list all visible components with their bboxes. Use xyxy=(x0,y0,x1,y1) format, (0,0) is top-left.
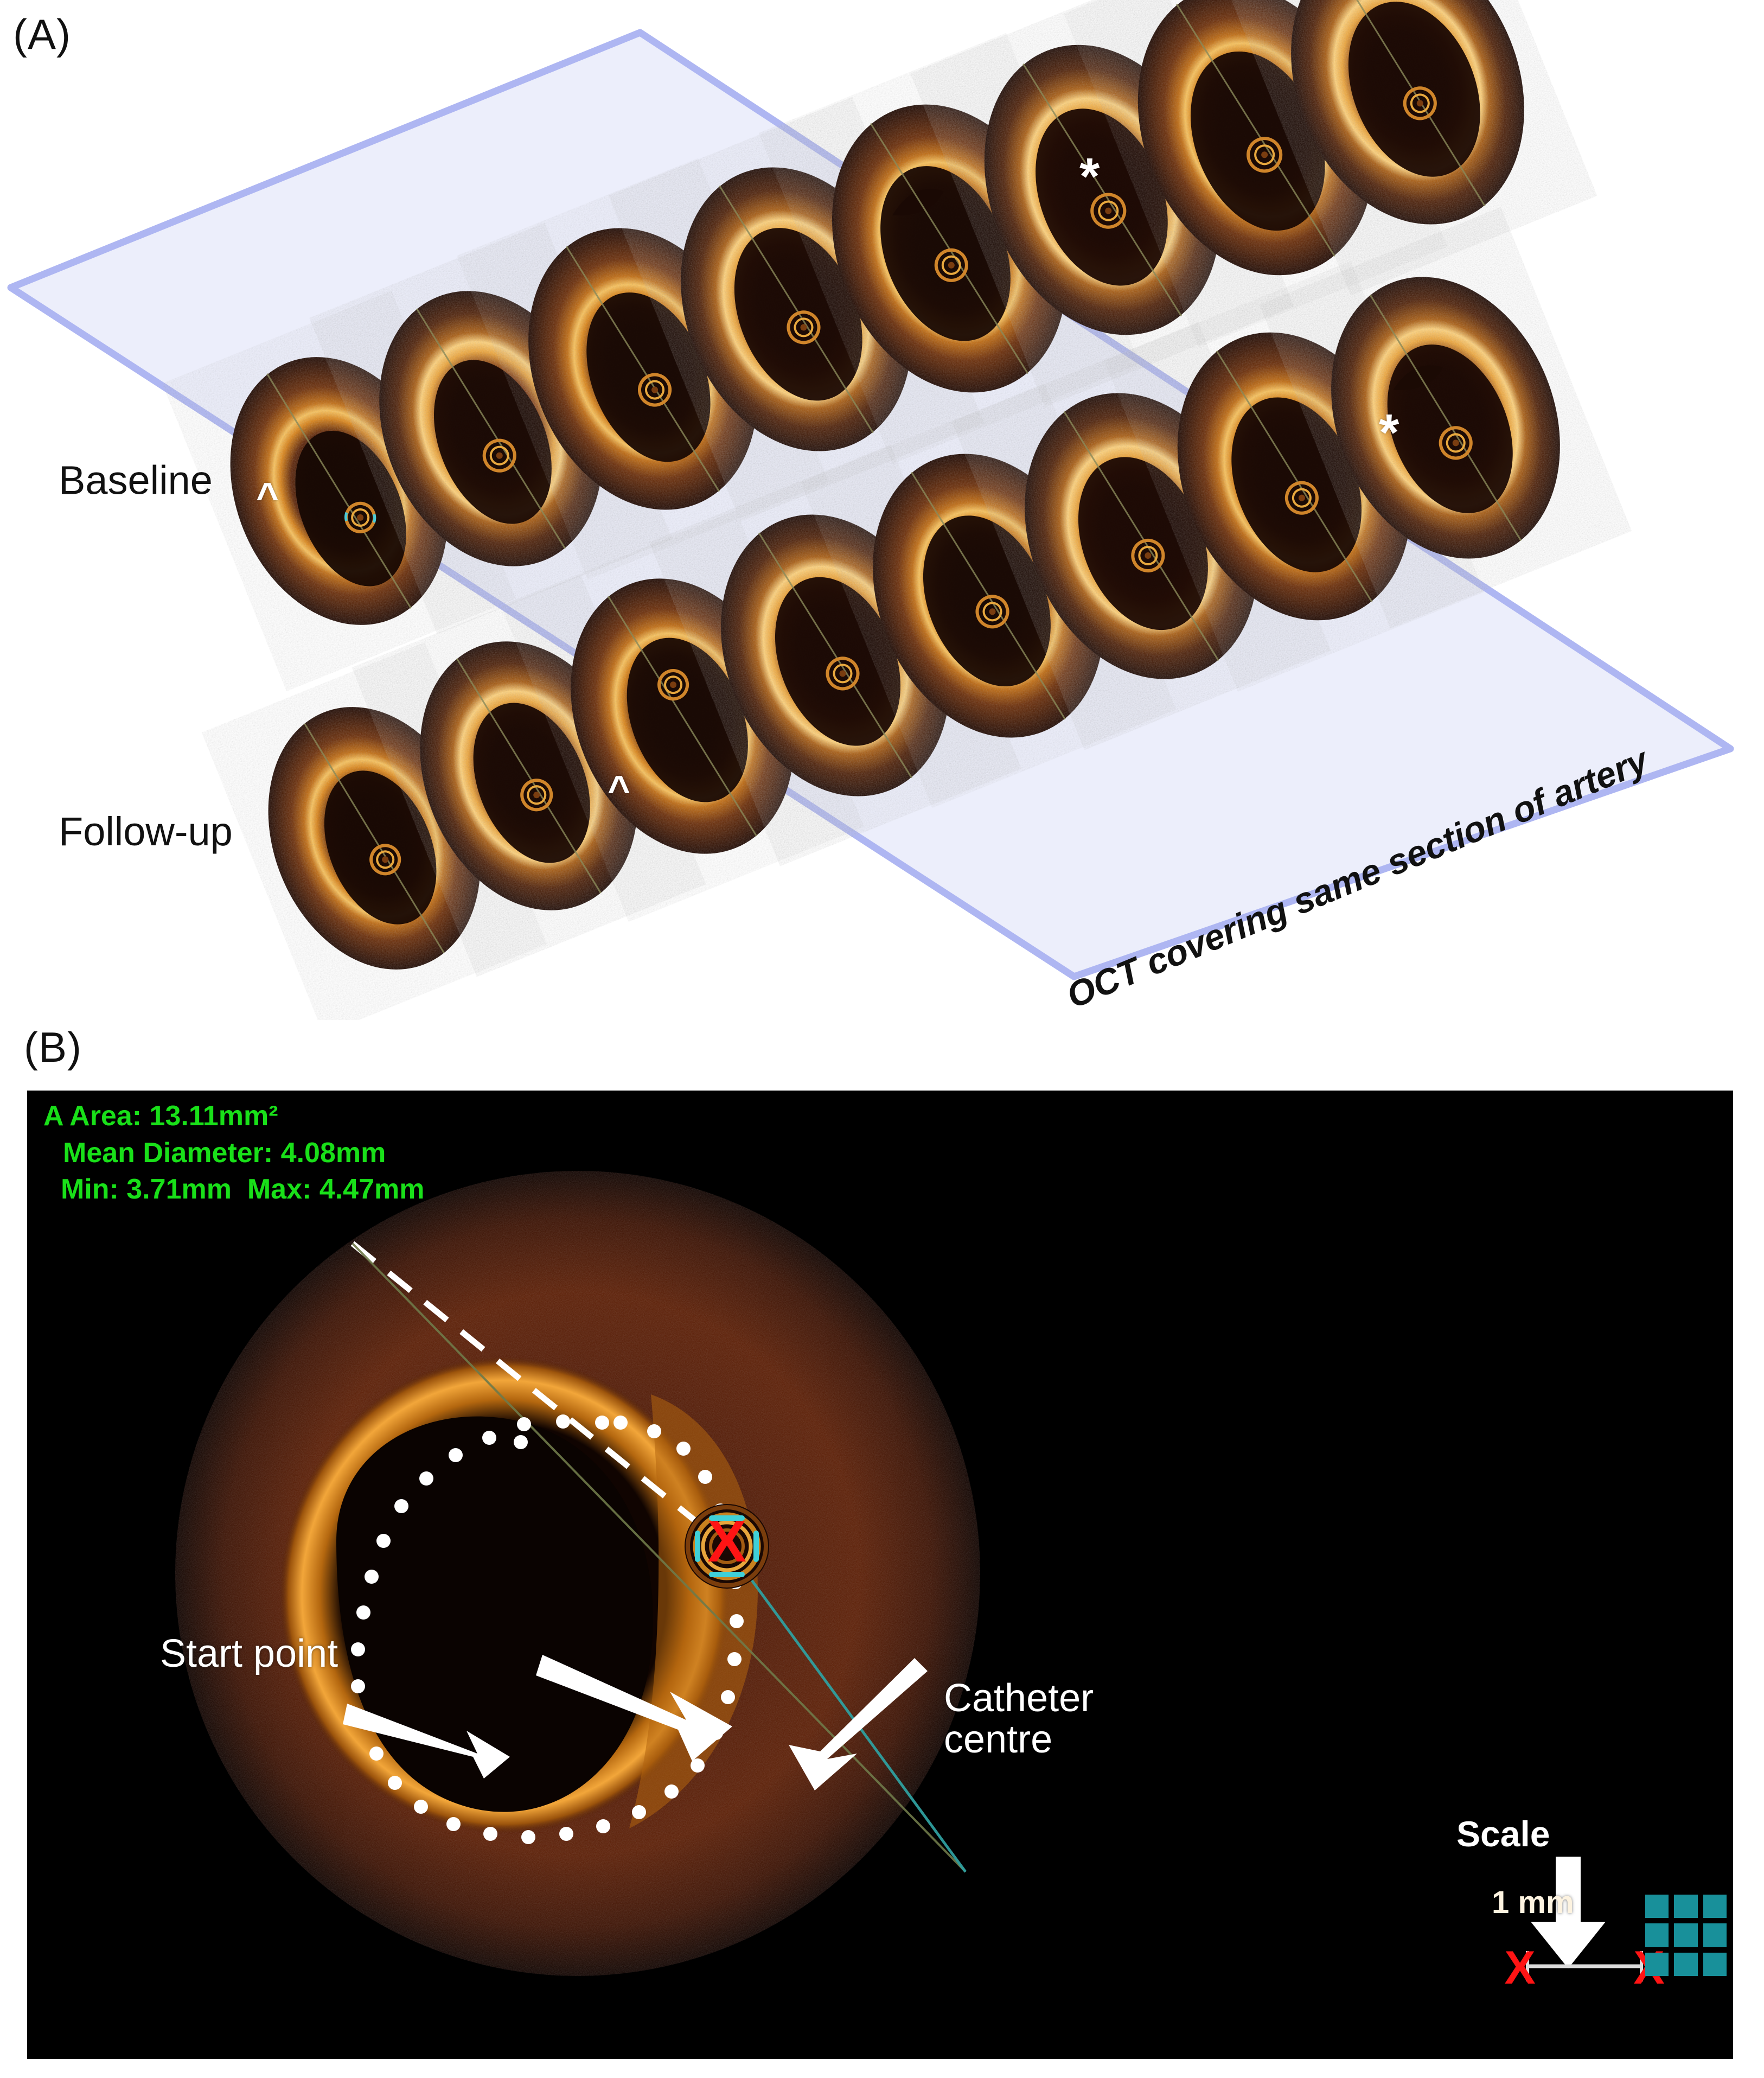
scale-bar-label: 1 mm xyxy=(1492,1886,1574,1919)
caret-marker-followup: ^ xyxy=(608,770,630,809)
row-label-baseline: Baseline xyxy=(59,457,213,503)
panel-b: A Area: 13.11mm²Mean Diameter: 4.08mmMin… xyxy=(27,1091,1733,2059)
oct-cross-section-image: X xyxy=(174,1167,982,1980)
catheter-centre-x-marker: X xyxy=(707,1508,746,1574)
scale-marker-left: X xyxy=(1504,1942,1535,1994)
panel-a: (A) xyxy=(0,0,1764,1020)
row-label-followup: Follow-up xyxy=(59,808,233,855)
caret-marker-baseline: ^ xyxy=(256,477,279,517)
area-line: A Area: 13.11mm² xyxy=(43,1100,278,1132)
panel-b-label: (B) xyxy=(24,1023,82,1072)
scale-annotation: Scale xyxy=(1456,1815,1550,1853)
asterisk-marker-baseline: * xyxy=(1079,151,1100,203)
catheter-centre-annotation: Catheter centre xyxy=(944,1678,1094,1761)
start-point-annotation: Start point xyxy=(160,1633,338,1674)
asterisk-marker-followup: * xyxy=(1379,407,1399,459)
oct-disc xyxy=(175,1171,980,1976)
vendor-grid-logo xyxy=(1645,1895,1727,1976)
